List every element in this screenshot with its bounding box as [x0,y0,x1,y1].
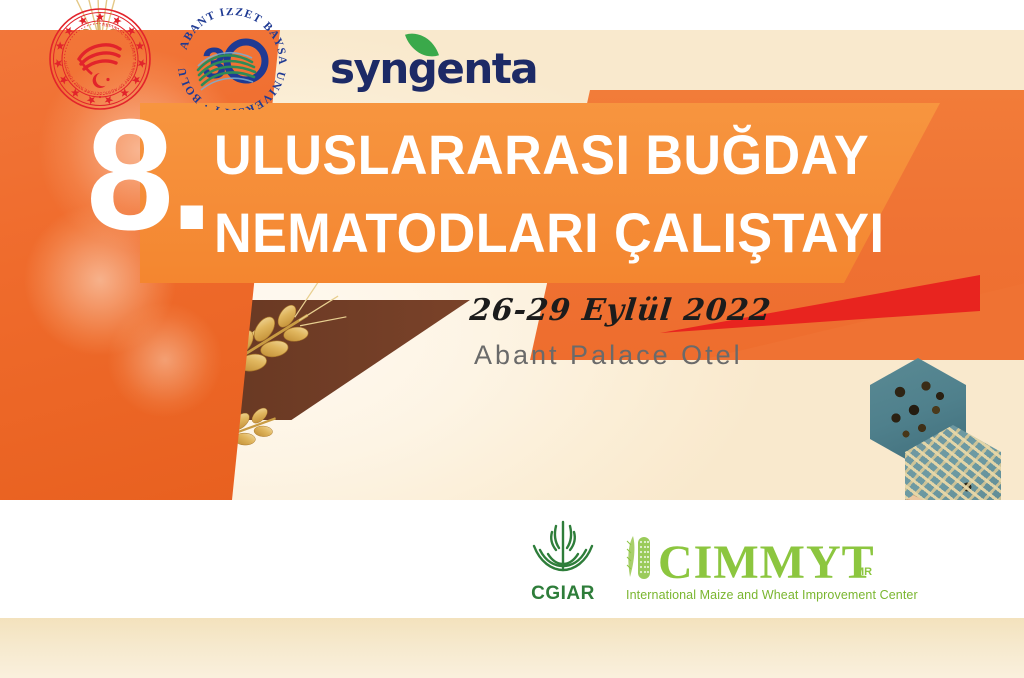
event-venue: Abant Palace Otel [474,340,743,371]
cimmyt-tagline: International Maize and Wheat Improvemen… [626,588,918,602]
cimmyt-trademark: MR [855,566,872,578]
cgiar-wordmark: CGIAR [528,583,598,605]
cgiar-plant-icon [528,516,598,578]
page-title: ULUSLARARASI BUĞDAY NEMATODLARI ÇALIŞTAY… [214,116,914,272]
svg-text:REPUBLIC OF TURKEY MINISTRY OF: REPUBLIC OF TURKEY MINISTRY OF AGRICULTU… [48,7,137,96]
title-line-1: ULUSLARARASI BUĞDAY [214,116,865,194]
event-date: 26-29 Eylül 2022 [468,293,773,328]
footer-gradient-strip [0,618,1024,678]
edition-number: 8. [86,96,210,254]
ministry-of-agriculture-logo: REPUBLIC OF TURKEY MINISTRY OF AGRICULTU… [48,7,152,111]
title-line-2: NEMATODLARI ÇALIŞTAYI [214,194,865,272]
abant-izzet-baysal-university-logo: ABANT IZZET BAYSAL UNIVERSITY · BOLU 3 [168,8,296,110]
conference-banner: 8. ULUSLARARASI BUĞDAY NEMATODLARI ÇALIŞ… [0,0,1024,678]
cimmyt-wordmark: CIMMYT [658,535,875,590]
cimmyt-maize-wheat-icon [624,533,658,588]
